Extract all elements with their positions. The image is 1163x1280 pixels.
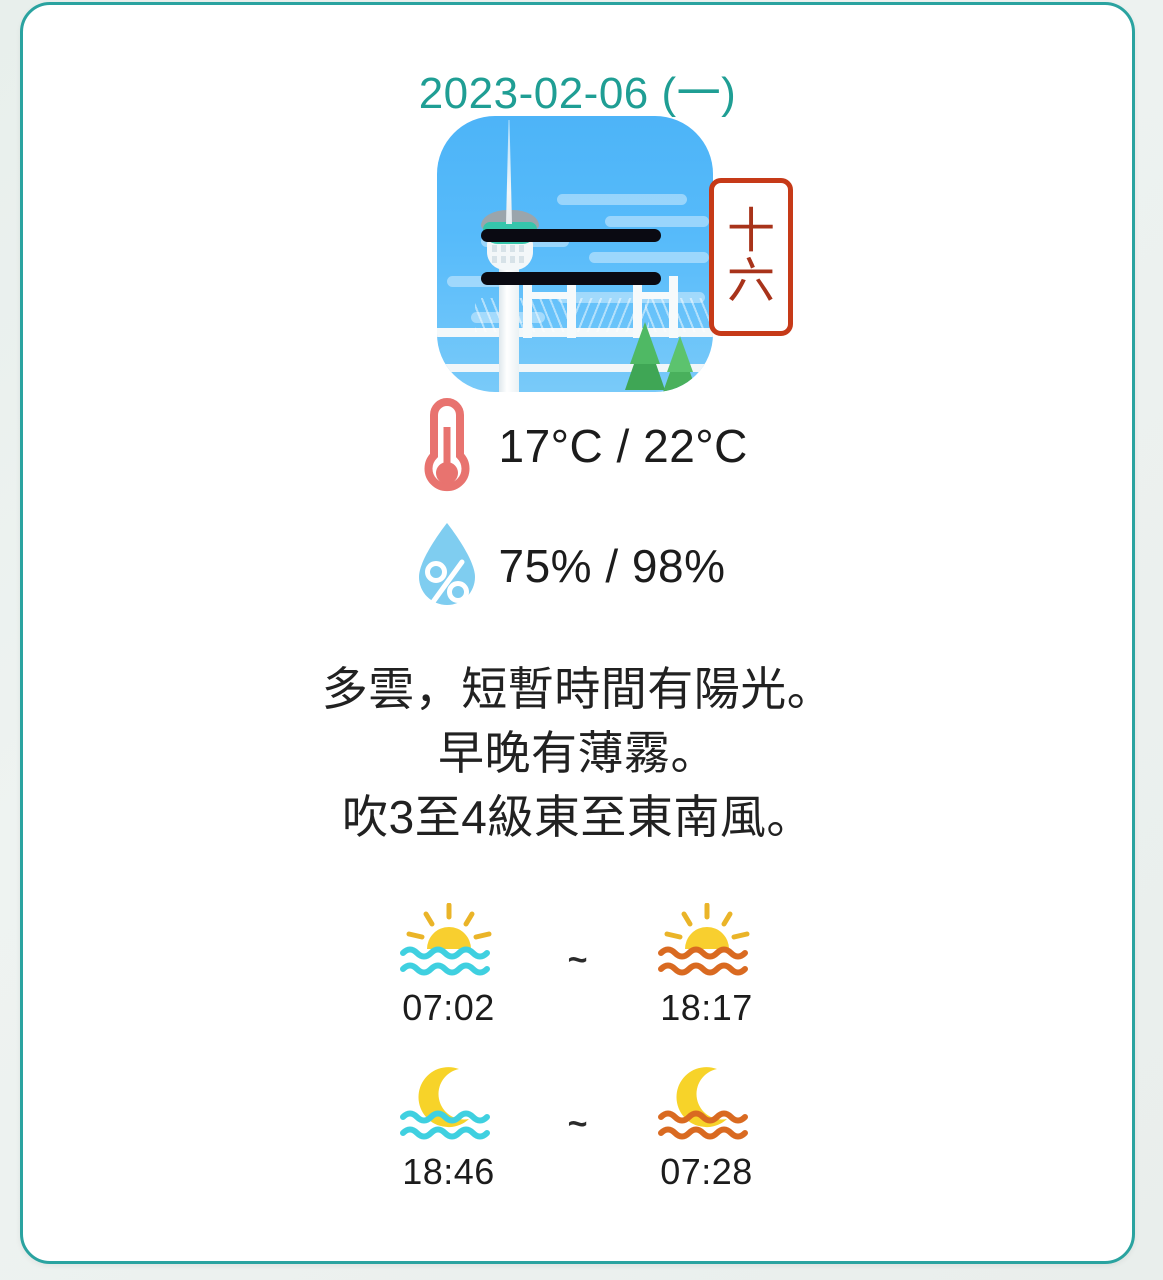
moonrise-icon <box>397 1067 501 1145</box>
pine-tree-icon <box>630 322 660 364</box>
icon-block: 十 六 <box>23 116 1132 394</box>
bridge-crossbeam <box>633 292 678 299</box>
sunrise-sunset-row: 07:02 ~ <box>23 903 1132 1029</box>
moonset-time: 07:28 <box>660 1151 753 1193</box>
tower-spire <box>506 120 512 224</box>
moonrise-item: 18:46 <box>364 1067 534 1193</box>
bridge-crossbeam <box>523 292 576 299</box>
forecast-line-3: 吹3至4級東至東南風。 <box>23 785 1132 849</box>
pine-tree-icon <box>667 336 693 372</box>
moonset-item: 07:28 <box>622 1067 792 1193</box>
lunar-char-top: 十 <box>727 207 775 257</box>
lunar-date-badge: 十 六 <box>709 178 793 336</box>
moonrise-time: 18:46 <box>402 1151 495 1193</box>
cloud-band <box>605 216 709 227</box>
humidity-value: 75% / 98% <box>499 539 761 593</box>
moon-range-separator: ~ <box>534 1067 622 1144</box>
macau-tower-illustration-icon <box>437 116 713 392</box>
cloud-band <box>589 252 709 263</box>
humidity-row: 75% / 98% <box>23 510 1132 622</box>
tower-observation-deck <box>487 240 533 270</box>
bridge-pylon <box>567 276 576 338</box>
bridge-pylon <box>523 276 532 338</box>
sunrise-icon <box>397 903 501 981</box>
forecast-line-1: 多雲，短暫時間有陽光。 <box>23 657 1132 721</box>
sunset-item: 18:17 <box>622 903 792 1029</box>
sun-range-separator: ~ <box>534 903 622 980</box>
page-title: 2023-02-06 (一) <box>23 57 1132 121</box>
sunset-icon <box>655 903 759 981</box>
lunar-char-bottom: 六 <box>727 257 775 307</box>
moonset-icon <box>655 1067 759 1145</box>
forecast-description: 多雲，短暫時間有陽光。 早晚有薄霧。 吹3至4級東至東南風。 <box>23 657 1132 849</box>
sunrise-time: 07:02 <box>402 987 495 1029</box>
moonrise-moonset-row: 18:46 ~ 07:28 <box>23 1067 1132 1193</box>
forecast-line-2: 早晚有薄霧。 <box>23 721 1132 785</box>
temperature-value: 17°C / 22°C <box>499 419 761 473</box>
cloud-band <box>557 194 687 205</box>
thermometer-icon <box>395 393 499 499</box>
weather-forecast-card: 2023-02-06 (一) <box>20 2 1135 1264</box>
temperature-row: 17°C / 22°C <box>23 390 1132 502</box>
sunrise-item: 07:02 <box>364 903 534 1029</box>
sunset-time: 18:17 <box>660 987 753 1029</box>
humidity-droplet-icon <box>395 513 499 619</box>
redaction-bar <box>481 229 661 242</box>
bridge-pylon <box>669 276 678 338</box>
redaction-bar <box>481 272 661 285</box>
